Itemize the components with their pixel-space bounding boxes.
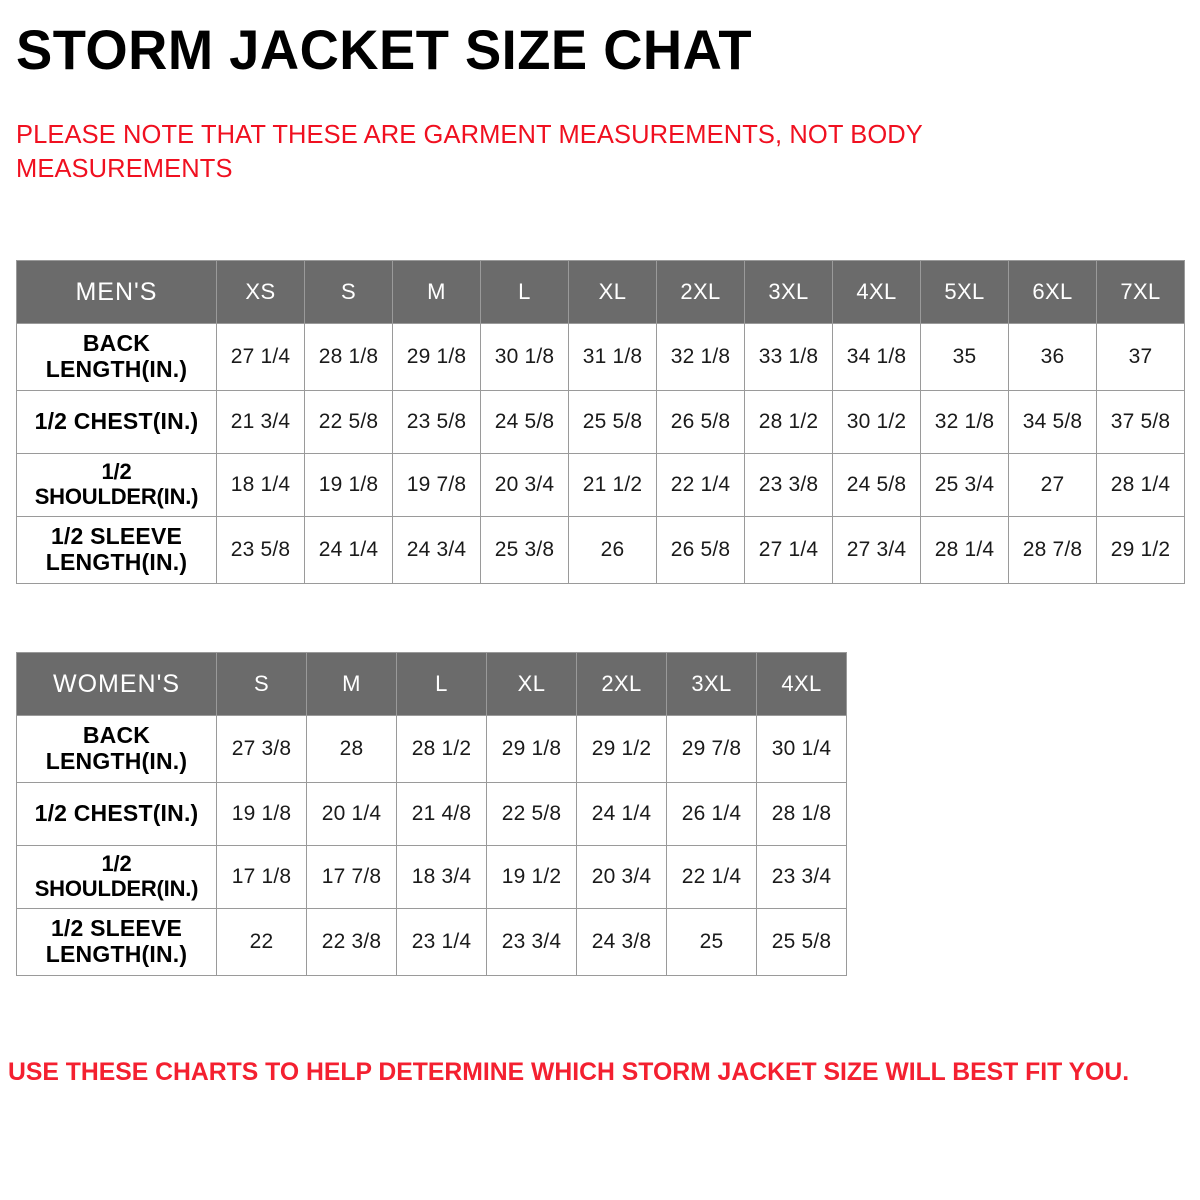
measurement-cell: 28 7/8 [1009,517,1097,584]
row-label-line: LENGTH(IN.) [46,941,187,967]
measurement-cell: 27 [1009,454,1097,517]
table-row: 1/2 SHOULDER(IN.)17 1/817 7/818 3/419 1/… [17,846,847,909]
measurement-cell: 28 1/2 [745,391,833,454]
measurement-cell: 20 3/4 [577,846,667,909]
measurement-cell: 20 1/4 [307,783,397,846]
row-label: 1/2 CHEST(IN.) [17,783,217,846]
measurement-cell: 29 7/8 [667,716,757,783]
measurement-cell: 23 3/4 [757,846,847,909]
row-label: BACKLENGTH(IN.) [17,716,217,783]
column-header-2xl: 2XL [657,261,745,324]
column-header-xs: XS [217,261,305,324]
row-label-line: 1/2 SLEEVE [51,523,182,549]
row-label-line: 1/2 SLEEVE [51,915,182,941]
measurement-cell: 26 5/8 [657,517,745,584]
row-label: 1/2 SHOULDER(IN.) [17,454,217,517]
measurement-cell: 27 3/4 [833,517,921,584]
column-header-s: S [217,653,307,716]
measurement-cell: 19 1/2 [487,846,577,909]
footer-help-note: USE THESE CHARTS TO HELP DETERMINE WHICH… [8,1058,1127,1087]
measurement-cell: 29 1/2 [577,716,667,783]
row-label-line: LENGTH(IN.) [46,549,187,575]
garment-measurement-note: PLEASE NOTE THAT THESE ARE GARMENT MEASU… [16,118,976,186]
measurement-cell: 18 3/4 [397,846,487,909]
table-row: 1/2 CHEST(IN.)21 3/422 5/823 5/824 5/825… [17,391,1185,454]
measurement-cell: 27 1/4 [745,517,833,584]
measurement-cell: 28 1/2 [397,716,487,783]
column-header-3xl: 3XL [667,653,757,716]
size-chart-page: STORM JACKET SIZE CHAT PLEASE NOTE THAT … [0,0,1200,1200]
column-header-xl: XL [487,653,577,716]
table-row: 1/2 SHOULDER(IN.)18 1/419 1/819 7/820 3/… [17,454,1185,517]
measurement-cell: 36 [1009,324,1097,391]
column-header-4xl: 4XL [833,261,921,324]
row-label: 1/2 SLEEVELENGTH(IN.) [17,517,217,584]
measurement-cell: 17 1/8 [217,846,307,909]
measurement-cell: 32 1/8 [921,391,1009,454]
womens-table-corner-label: WOMEN'S [17,653,217,716]
column-header-l: L [481,261,569,324]
measurement-cell: 24 1/4 [577,783,667,846]
column-header-m: M [307,653,397,716]
measurement-cell: 24 5/8 [481,391,569,454]
column-header-s: S [305,261,393,324]
column-header-6xl: 6XL [1009,261,1097,324]
measurement-cell: 29 1/2 [1097,517,1185,584]
measurement-cell: 22 5/8 [487,783,577,846]
row-label-line: BACK [83,722,150,748]
row-label: 1/2 SLEEVELENGTH(IN.) [17,909,217,976]
column-header-4xl: 4XL [757,653,847,716]
womens-size-table-wrapper: WOMEN'SSMLXL2XL3XL4XLBACKLENGTH(IN.)27 3… [16,652,847,976]
mens-table-corner-label: MEN'S [17,261,217,324]
measurement-cell: 33 1/8 [745,324,833,391]
measurement-cell: 37 5/8 [1097,391,1185,454]
measurement-cell: 22 3/8 [307,909,397,976]
measurement-cell: 34 5/8 [1009,391,1097,454]
measurement-cell: 28 1/4 [921,517,1009,584]
row-label-line: 1/2 SHOULDER(IN.) [35,459,199,509]
row-label-line: LENGTH(IN.) [46,748,187,774]
measurement-cell: 30 1/2 [833,391,921,454]
measurement-cell: 31 1/8 [569,324,657,391]
measurement-cell: 23 5/8 [393,391,481,454]
measurement-cell: 23 3/4 [487,909,577,976]
measurement-cell: 22 [217,909,307,976]
measurement-cell: 17 7/8 [307,846,397,909]
column-header-m: M [393,261,481,324]
womens-size-table: WOMEN'SSMLXL2XL3XL4XLBACKLENGTH(IN.)27 3… [16,652,847,976]
row-label: BACKLENGTH(IN.) [17,324,217,391]
row-label: 1/2 SHOULDER(IN.) [17,846,217,909]
measurement-cell: 27 3/8 [217,716,307,783]
column-header-7xl: 7XL [1097,261,1185,324]
column-header-3xl: 3XL [745,261,833,324]
measurement-cell: 24 5/8 [833,454,921,517]
column-header-xl: XL [569,261,657,324]
table-row: BACKLENGTH(IN.)27 3/82828 1/229 1/829 1/… [17,716,847,783]
measurement-cell: 35 [921,324,1009,391]
row-label-line: 1/2 SHOULDER(IN.) [35,851,199,901]
measurement-cell: 19 1/8 [217,783,307,846]
measurement-cell: 23 3/8 [745,454,833,517]
measurement-cell: 23 5/8 [217,517,305,584]
measurement-cell: 34 1/8 [833,324,921,391]
row-label-line: 1/2 CHEST(IN.) [35,800,199,826]
measurement-cell: 28 1/8 [757,783,847,846]
measurement-cell: 29 1/8 [393,324,481,391]
measurement-cell: 22 5/8 [305,391,393,454]
table-row: BACKLENGTH(IN.)27 1/428 1/829 1/830 1/83… [17,324,1185,391]
measurement-cell: 22 1/4 [657,454,745,517]
measurement-cell: 20 3/4 [481,454,569,517]
measurement-cell: 37 [1097,324,1185,391]
measurement-cell: 25 5/8 [569,391,657,454]
measurement-cell: 21 4/8 [397,783,487,846]
measurement-cell: 19 7/8 [393,454,481,517]
measurement-cell: 18 1/4 [217,454,305,517]
measurement-cell: 19 1/8 [305,454,393,517]
measurement-cell: 26 [569,517,657,584]
measurement-cell: 24 3/8 [577,909,667,976]
table-row: 1/2 SLEEVELENGTH(IN.)2222 3/823 1/423 3/… [17,909,847,976]
table-row: 1/2 CHEST(IN.)19 1/820 1/421 4/822 5/824… [17,783,847,846]
row-label-line: LENGTH(IN.) [46,356,187,382]
measurement-cell: 27 1/4 [217,324,305,391]
measurement-cell: 25 3/4 [921,454,1009,517]
row-label: 1/2 CHEST(IN.) [17,391,217,454]
measurement-cell: 22 1/4 [667,846,757,909]
mens-size-table: MEN'SXSSMLXL2XL3XL4XL5XL6XL7XLBACKLENGTH… [16,260,1185,584]
measurement-cell: 21 3/4 [217,391,305,454]
column-header-2xl: 2XL [577,653,667,716]
measurement-cell: 25 3/8 [481,517,569,584]
row-label-line: 1/2 CHEST(IN.) [35,408,199,434]
measurement-cell: 30 1/4 [757,716,847,783]
column-header-l: L [397,653,487,716]
measurement-cell: 24 1/4 [305,517,393,584]
measurement-cell: 26 1/4 [667,783,757,846]
measurement-cell: 23 1/4 [397,909,487,976]
measurement-cell: 24 3/4 [393,517,481,584]
measurement-cell: 25 [667,909,757,976]
measurement-cell: 29 1/8 [487,716,577,783]
measurement-cell: 28 1/8 [305,324,393,391]
measurement-cell: 28 1/4 [1097,454,1185,517]
mens-size-table-wrapper: MEN'SXSSMLXL2XL3XL4XL5XL6XL7XLBACKLENGTH… [16,260,1185,584]
row-label-line: BACK [83,330,150,356]
measurement-cell: 25 5/8 [757,909,847,976]
page-title: STORM JACKET SIZE CHAT [16,22,752,78]
column-header-5xl: 5XL [921,261,1009,324]
measurement-cell: 32 1/8 [657,324,745,391]
measurement-cell: 28 [307,716,397,783]
measurement-cell: 21 1/2 [569,454,657,517]
table-row: 1/2 SLEEVELENGTH(IN.)23 5/824 1/424 3/42… [17,517,1185,584]
measurement-cell: 26 5/8 [657,391,745,454]
measurement-cell: 30 1/8 [481,324,569,391]
